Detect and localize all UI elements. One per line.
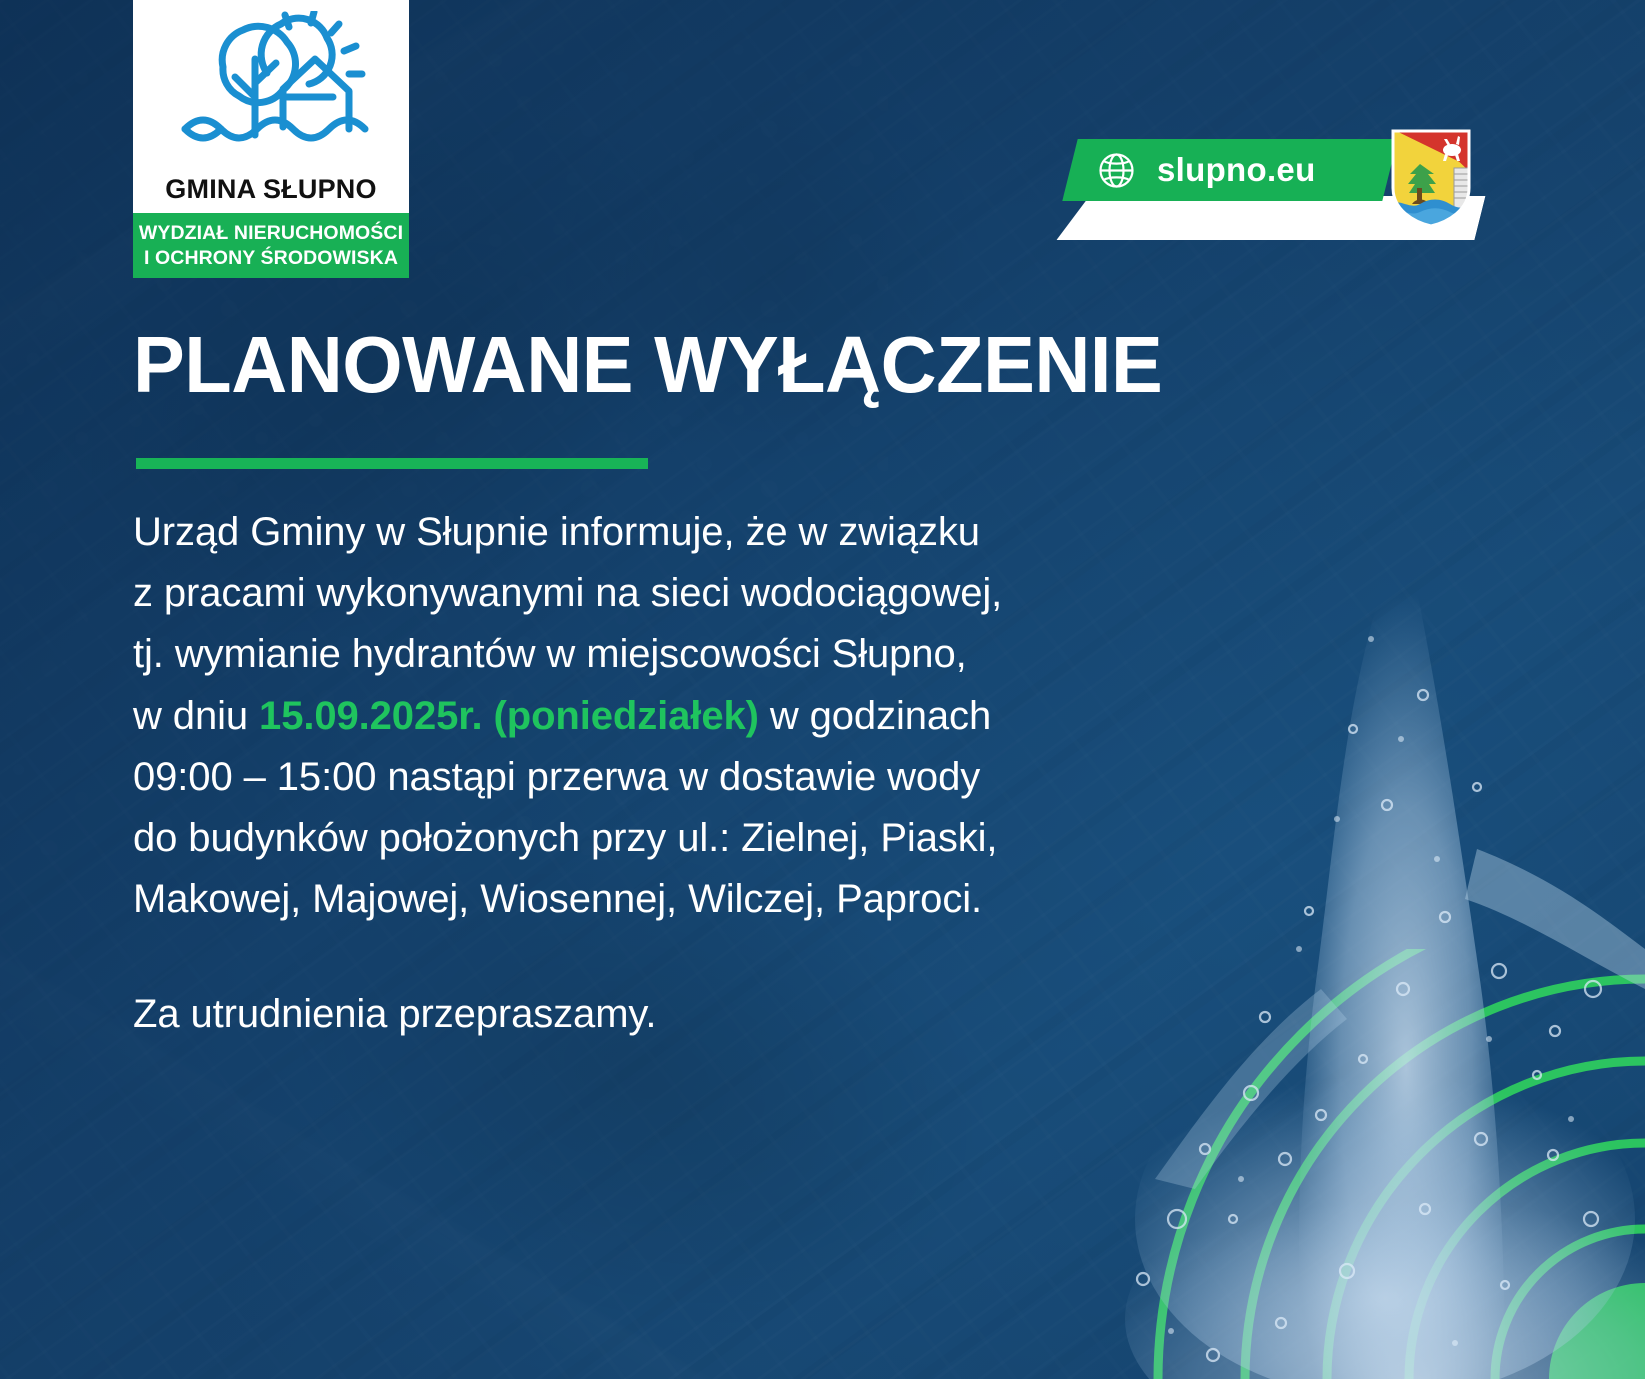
logo-department-line-2: I OCHRONY ŚRODOWISKA <box>144 246 398 271</box>
page-title: PLANOWANE WYŁĄCZENIE <box>133 325 1162 405</box>
logo-department-label: WYDZIAŁ NIERUCHOMOŚCI I OCHRONY ŚRODOWIS… <box>133 213 409 278</box>
logo-municipality-name: GMINA SŁUPNO <box>133 165 409 213</box>
globe-icon <box>1098 152 1135 189</box>
body-line-4: w dniu 15.09.2025r. (poniedziałek) w god… <box>133 686 1133 747</box>
slupno-coat-of-arms-icon <box>1390 128 1472 228</box>
website-url-label: slupno.eu <box>1157 151 1316 189</box>
website-banner[interactable]: slupno.eu <box>1062 139 1397 201</box>
trees-sun-house-water-icon <box>133 0 409 165</box>
body-line-3: tj. wymianie hydrantów w miejscowości Sł… <box>133 624 1133 685</box>
body-line-6: do budynków położonych przy ul.: Zielnej… <box>133 808 1133 869</box>
title-underline-rule <box>136 458 648 469</box>
outage-date-highlight: 15.09.2025r. (poniedziałek) <box>259 694 759 738</box>
gmina-slupno-logo: GMINA SŁUPNO WYDZIAŁ NIERUCHOMOŚCI I OCH… <box>133 0 409 278</box>
body-closing: Za utrudnienia przepraszamy. <box>133 984 1133 1045</box>
body-line-5: 09:00 – 15:00 nastąpi przerwa w dostawie… <box>133 747 1133 808</box>
water-splash-graphic <box>1085 519 1645 1379</box>
logo-department-line-1: WYDZIAŁ NIERUCHOMOŚCI <box>139 221 403 246</box>
announcement-poster: GMINA SŁUPNO WYDZIAŁ NIERUCHOMOŚCI I OCH… <box>0 0 1645 1379</box>
body-line-1: Urząd Gminy w Słupnie informuje, że w zw… <box>133 502 1133 563</box>
body-spacer <box>133 930 1133 984</box>
body-line-2: z pracami wykonywanymi na sieci wodociąg… <box>133 563 1133 624</box>
body-line-4-suffix: w godzinach <box>759 694 991 738</box>
body-line-4-prefix: w dniu <box>133 694 259 738</box>
body-line-7: Makowej, Majowej, Wiosennej, Wilczej, Pa… <box>133 869 1133 930</box>
announcement-body: Urząd Gminy w Słupnie informuje, że w zw… <box>133 502 1133 1046</box>
